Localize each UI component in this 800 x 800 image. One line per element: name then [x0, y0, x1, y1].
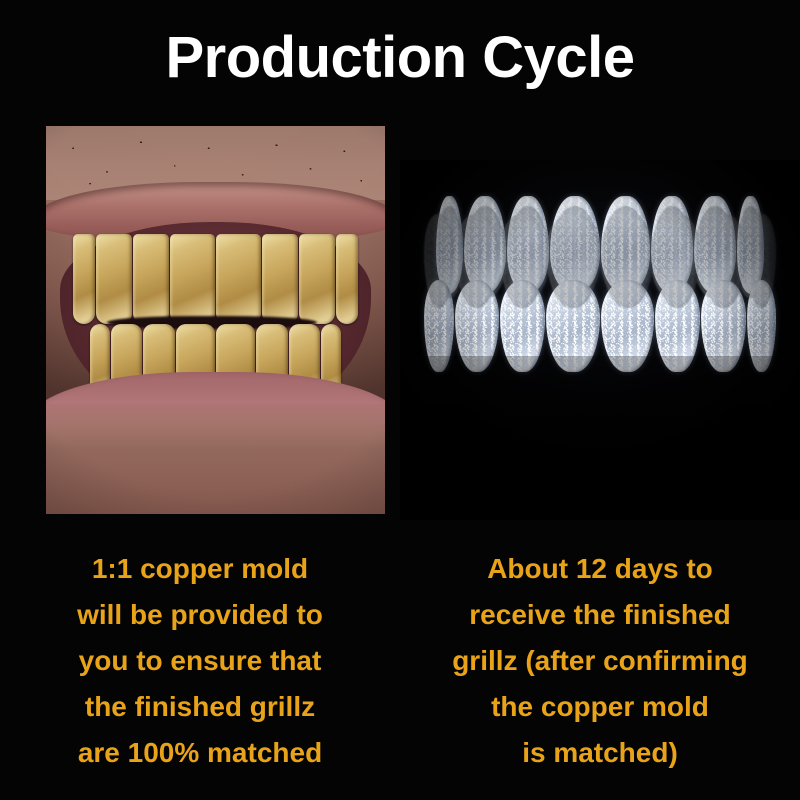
caption-left-line-4: the finished grillz [20, 684, 380, 730]
caption-left-line-2: will be provided to [20, 592, 380, 638]
caption-left: 1:1 copper mold will be provided to you … [20, 546, 380, 776]
diamond-tooth [655, 280, 700, 372]
gold-tooth [299, 234, 335, 324]
diamond-tooth [500, 280, 545, 372]
diamond-tooth [455, 280, 500, 372]
caption-right-line-3: grillz (after confirming [420, 638, 780, 684]
gold-tooth [96, 234, 132, 324]
production-cycle-poster: Production Cycle [0, 0, 800, 800]
caption-right-line-4: the copper mold [420, 684, 780, 730]
diamond-grillz-lower-row [424, 280, 776, 372]
caption-left-line-3: you to ensure that [20, 638, 380, 684]
diamond-tooth [701, 280, 746, 372]
diamond-tooth [546, 280, 600, 372]
caption-right-line-2: receive the finished [420, 592, 780, 638]
page-title: Production Cycle [0, 26, 800, 90]
gold-tooth [170, 234, 215, 324]
diamond-grillz-illustration [400, 160, 800, 520]
caption-right-line-5: is matched) [420, 730, 780, 776]
diamond-grillz-product-photo [400, 160, 800, 520]
gold-grillz-mouth-photo [46, 126, 385, 514]
gold-tooth [73, 234, 95, 324]
caption-right: About 12 days to receive the finished gr… [420, 546, 780, 776]
gold-tooth [336, 234, 358, 324]
gold-grillz-upper-row [73, 234, 358, 324]
mouth-illustration [46, 126, 385, 514]
diamond-tooth [424, 280, 454, 372]
gold-tooth [133, 234, 169, 324]
diamond-tooth [601, 280, 655, 372]
caption-right-line-1: About 12 days to [420, 546, 780, 592]
gold-tooth [216, 234, 261, 324]
gold-tooth [262, 234, 298, 324]
chin [46, 404, 385, 514]
diamond-tooth [747, 280, 777, 372]
reflection-fade-overlay [400, 356, 800, 520]
caption-left-line-5: are 100% matched [20, 730, 380, 776]
caption-left-line-1: 1:1 copper mold [20, 546, 380, 592]
